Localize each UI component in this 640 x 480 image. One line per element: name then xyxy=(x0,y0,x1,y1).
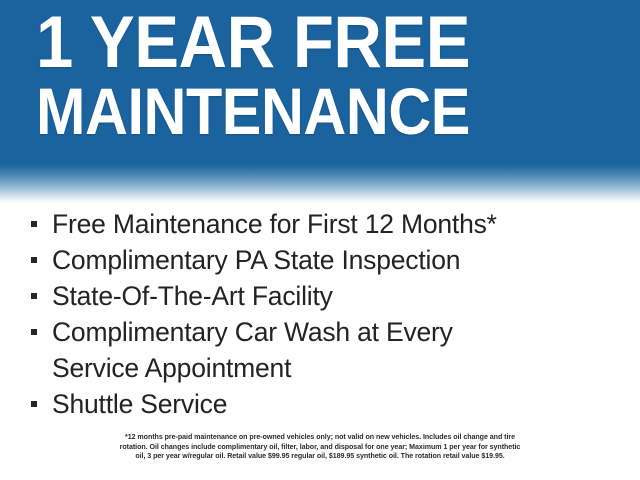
list-item-label: Complimentary Car Wash at Every xyxy=(52,319,453,346)
square-bullet-icon xyxy=(31,257,37,263)
square-bullet-icon xyxy=(31,221,37,227)
square-bullet-icon xyxy=(31,401,37,407)
disclaimer-line-3: oil, 3 per year w/regular oil. Retail va… xyxy=(28,452,612,462)
list-item-label: State-Of-The-Art Facility xyxy=(52,283,333,310)
headline-line-1: 1 YEAR FREE xyxy=(36,8,579,78)
list-item: Free Maintenance for First 12 Months* xyxy=(0,206,640,242)
list-item-continuation: Service Appointment xyxy=(0,350,640,386)
disclaimer: *12 months pre-paid maintenance on pre-o… xyxy=(0,433,640,462)
disclaimer-line-1: *12 months pre-paid maintenance on pre-o… xyxy=(28,433,612,443)
list-item-label: Free Maintenance for First 12 Months* xyxy=(52,211,497,238)
list-item: Shuttle Service xyxy=(0,386,640,422)
headline-line-2: MAINTENANCE xyxy=(36,80,567,143)
headline: 1 YEAR FREE MAINTENANCE xyxy=(36,8,626,143)
square-bullet-icon xyxy=(31,329,37,335)
list-item: Complimentary Car Wash at Every xyxy=(0,314,640,350)
list-item: State-Of-The-Art Facility xyxy=(0,278,640,314)
list-item-label: Complimentary PA State Inspection xyxy=(52,247,460,274)
square-bullet-icon xyxy=(31,293,37,299)
benefits-list: Free Maintenance for First 12 Months* Co… xyxy=(0,206,640,422)
promotional-ad: 1 YEAR FREE MAINTENANCE Free Maintenance… xyxy=(0,0,640,480)
list-item: Complimentary PA State Inspection xyxy=(0,242,640,278)
list-item-label: Service Appointment xyxy=(52,355,291,382)
list-item-label: Shuttle Service xyxy=(52,391,227,418)
banner-gradient-fade xyxy=(0,164,640,204)
disclaimer-line-2: rotation. Oil changes include compliment… xyxy=(28,443,612,453)
